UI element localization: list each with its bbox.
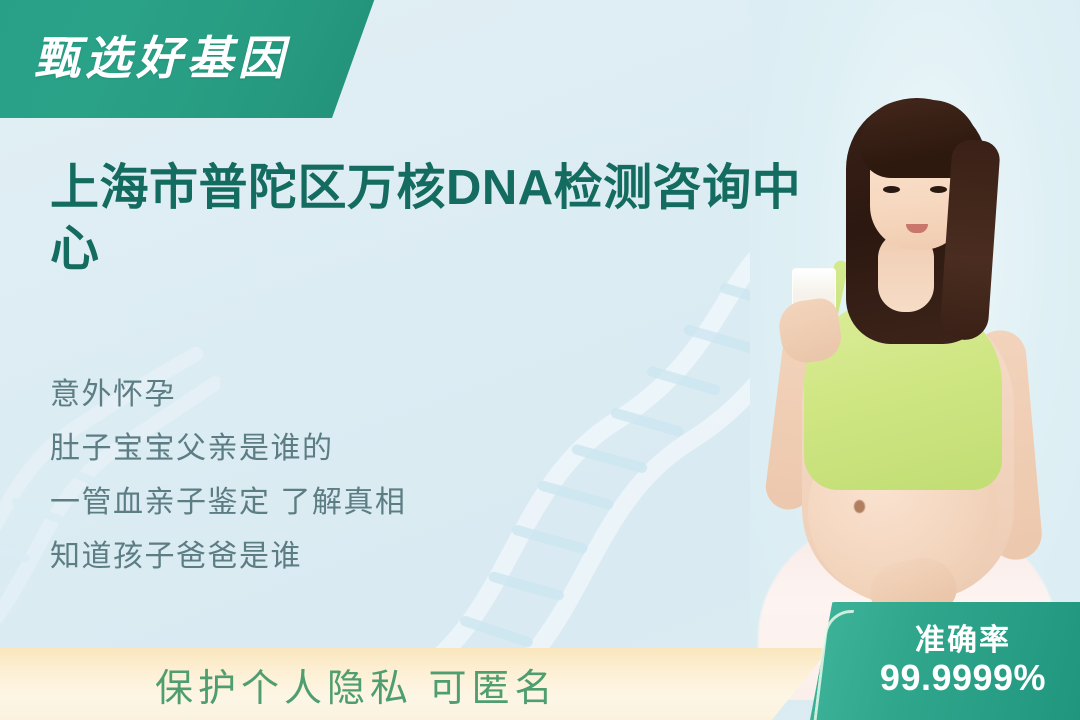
brand-banner: 甄选好基因: [0, 0, 380, 118]
description-line-3: 一管血亲子鉴定 了解真相: [50, 476, 406, 530]
description-line-2: 肚子宝宝父亲是谁的: [50, 422, 406, 476]
photo-navel: [854, 500, 865, 513]
promotional-banner: 甄选好基因 上海市普陀区万核DNA检测咨询中心 意外怀孕 肚子宝宝父亲是谁的 一…: [0, 0, 1080, 720]
accuracy-badge-value: 99.9999%: [880, 657, 1046, 698]
description-line-1: 意外怀孕: [50, 368, 406, 422]
brand-banner-text: 甄选好基因: [0, 22, 289, 118]
accuracy-badge: 准确率 99.9999%: [810, 602, 1080, 720]
description-line-4: 知道孩子爸爸是谁: [50, 530, 406, 584]
privacy-tagline: 保护个人隐私 可匿名: [155, 657, 558, 712]
photo-eye-right: [930, 186, 947, 193]
description-block: 意外怀孕 肚子宝宝父亲是谁的 一管血亲子鉴定 了解真相 知道孩子爸爸是谁: [50, 368, 406, 584]
accuracy-badge-label: 准确率: [915, 624, 1011, 657]
photo-eye-left: [883, 186, 900, 193]
pregnant-woman-photo: [750, 0, 1080, 700]
page-title: 上海市普陀区万核DNA检测咨询中心: [50, 158, 840, 280]
